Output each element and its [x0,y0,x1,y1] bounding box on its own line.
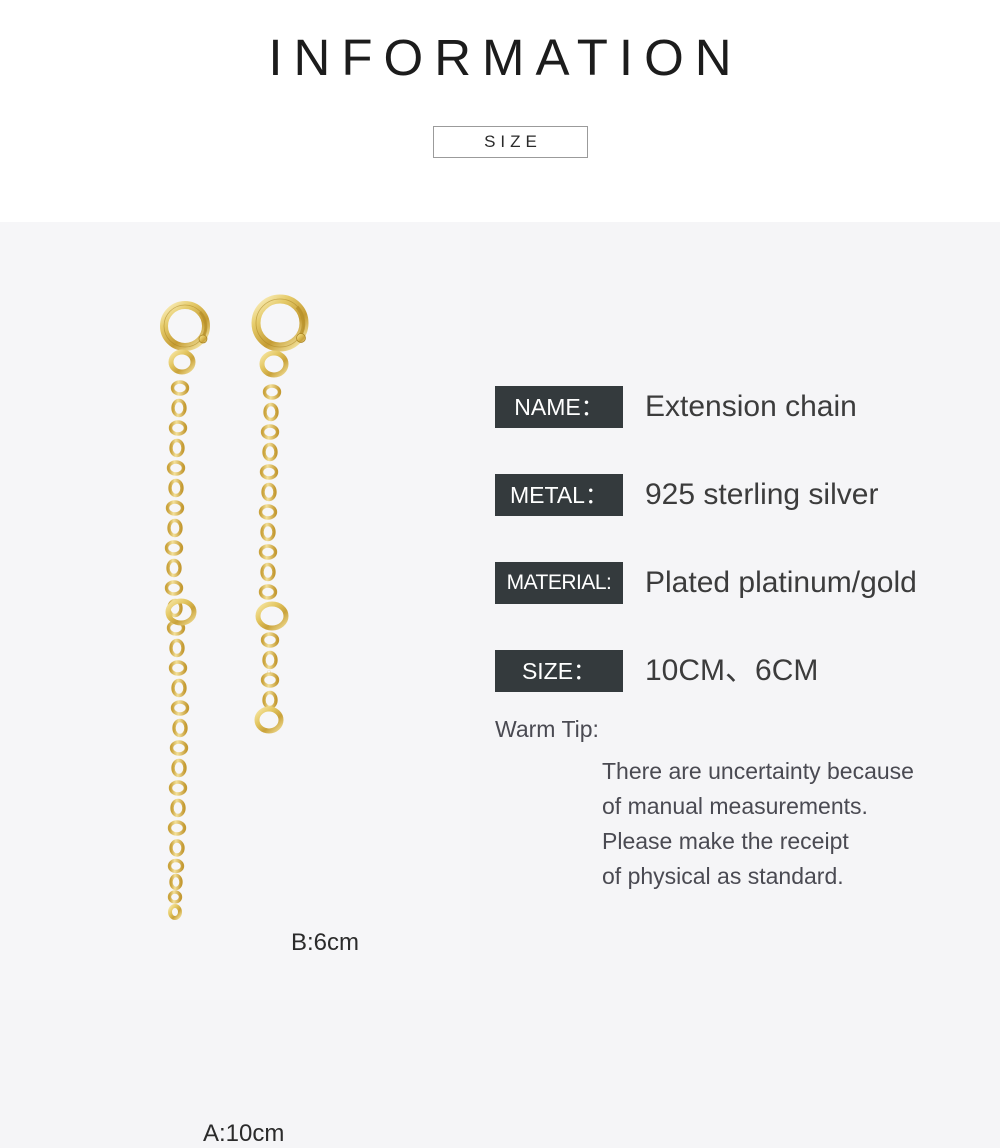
spec-label-metal: METAL： [495,474,623,516]
chain-a-clasp [164,305,207,347]
size-tab-label: SIZE [434,127,587,157]
spec-label-size: SIZE： [495,650,623,692]
spec-value-material: Plated platinum/gold [645,558,917,608]
header-band: INFORMATION SIZE [0,0,1000,222]
spec-label-name: NAME： [495,386,623,428]
extension-chain-illustration [0,222,470,1000]
chain-b-clasp [256,299,306,347]
warm-tip-lines: There are uncertainty because of manual … [495,754,965,894]
spec-list: NAME： Extension chain METAL： 925 sterlin… [495,386,985,738]
warm-tip-line: of physical as standard. [602,859,965,894]
dimension-label-long-chain: A:10cm [203,1120,284,1148]
warm-tip-block: Warm Tip: There are uncertainty because … [495,714,965,894]
spec-label-material: MATERIAL: [495,562,623,604]
information-page: INFORMATION SIZE [0,0,1000,1000]
chain-b-end-ring [257,709,281,731]
chain-a-long [164,305,207,918]
spec-row-name: NAME： Extension chain [495,386,985,474]
spec-value-metal: 925 sterling silver [645,470,878,520]
warm-tip-title: Warm Tip: [495,714,965,744]
size-tab: SIZE [433,126,588,158]
warm-tip-line: There are uncertainty because [602,754,965,789]
chain-b-jump-ring [262,353,286,375]
chain-b-short [256,299,306,731]
chain-b-links-lower [263,634,278,708]
spec-row-metal: METAL： 925 sterling silver [495,474,985,562]
product-photo: B:6cm A:10cm [0,222,470,1000]
chain-a-links-lower [170,702,188,902]
spec-value-name: Extension chain [645,382,857,432]
warm-tip-line: Please make the receipt [602,824,965,859]
warm-tip-line: of manual measurements. [602,789,965,824]
chain-a-jump-ring [171,352,193,372]
spec-row-material: MATERIAL: Plated platinum/gold [495,562,985,650]
chain-a-end-ring [170,906,180,918]
spec-value-size: 10CM、6CM [645,646,818,696]
chain-b-links [261,386,280,598]
dimension-label-short-chain: B:6cm [291,929,359,957]
page-title: INFORMATION [0,30,1000,86]
chain-a-links [167,382,188,696]
chain-b-mid-ring [258,604,286,628]
